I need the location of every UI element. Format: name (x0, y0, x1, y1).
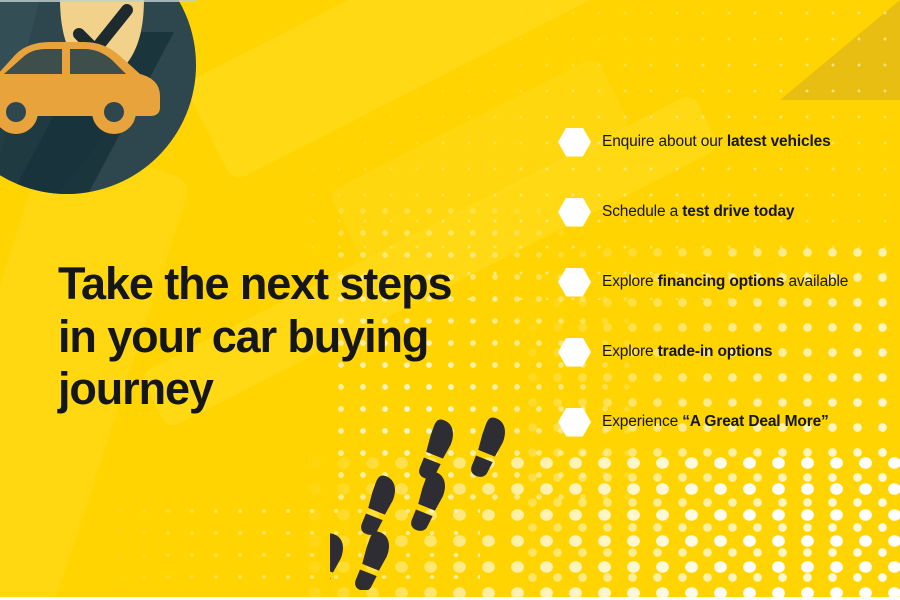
label-emphasis: financing options (658, 273, 785, 290)
hexagon-bullet-icon (558, 198, 591, 227)
hexagon-bullet-icon (558, 268, 591, 297)
label-prefix: Explore (602, 343, 658, 360)
list-item-label: Enquire about our latest vehicles (602, 133, 831, 151)
badge-top-highlight (0, 0, 196, 2)
label-prefix: Explore (602, 273, 658, 290)
headline-line-3: journey (58, 363, 528, 416)
label-prefix: Experience (602, 413, 682, 430)
label-suffix: available (784, 273, 848, 290)
label-emphasis: test drive today (682, 203, 794, 220)
label-prefix: Schedule a (602, 203, 682, 220)
list-item-label: Experience “A Great Deal More” (602, 413, 829, 431)
headline-line-2: in your car buying (58, 311, 528, 364)
list-item[interactable]: Schedule a test drive today (558, 196, 898, 228)
list-item[interactable]: Experience “A Great Deal More” (558, 406, 898, 438)
hexagon-bullet-icon (558, 128, 591, 157)
label-emphasis: trade-in options (658, 343, 773, 360)
promo-banner: Take the next steps in your car buying j… (0, 0, 900, 600)
label-prefix: Enquire about our (602, 133, 727, 150)
footprints-icon (330, 415, 550, 590)
page-title: Take the next steps in your car buying j… (58, 258, 528, 416)
list-item-label: Explore trade-in options (602, 343, 772, 361)
benefits-list: Enquire about our latest vehicles Schedu… (558, 126, 898, 438)
headline-line-1: Take the next steps (58, 258, 528, 311)
list-item-label: Schedule a test drive today (602, 203, 794, 221)
list-item[interactable]: Explore financing options available (558, 266, 898, 298)
hexagon-bullet-icon (558, 408, 591, 437)
car-shield-badge (0, 0, 196, 194)
list-item[interactable]: Explore trade-in options (558, 336, 898, 368)
label-emphasis: latest vehicles (727, 133, 831, 150)
list-item[interactable]: Enquire about our latest vehicles (558, 126, 898, 158)
hexagon-bullet-icon (558, 338, 591, 367)
list-item-label: Explore financing options available (602, 273, 848, 291)
label-emphasis: “A Great Deal More” (682, 413, 828, 430)
